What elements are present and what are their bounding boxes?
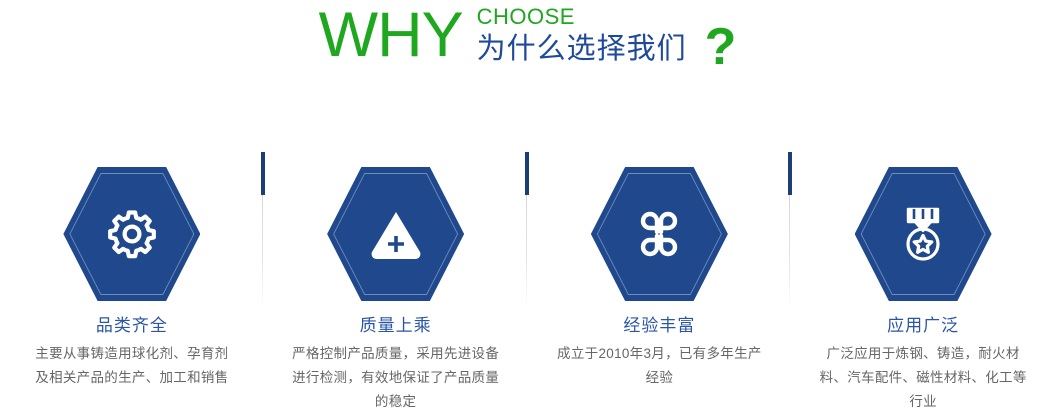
- heading-choose: CHOOSE: [477, 5, 687, 29]
- gear-icon: [63, 167, 200, 301]
- card-title: 质量上乘: [360, 315, 432, 337]
- card-description: 广泛应用于炼钢、铸造，耐火材料、汽车配件、磁性材料、化工等行业: [816, 342, 1031, 414]
- card-description: 严格控制产品质量，采用先进设备进行检测，有效地保证了产品质量的稳定: [288, 342, 503, 414]
- feature-card[interactable]: 应用广泛 广泛应用于炼钢、铸造，耐火材料、汽车配件、磁性材料、化工等行业: [791, 150, 1055, 416]
- triangle-plus-icon: [327, 167, 464, 301]
- card-title: 品类齐全: [96, 315, 168, 337]
- hexagon-badge: [855, 167, 992, 301]
- clover-icon: [591, 167, 728, 301]
- heading-why: WHY: [319, 2, 463, 68]
- feature-card[interactable]: 品类齐全 主要从事铸造用球化剂、孕育剂及相关产品的生产、加工和销售: [0, 150, 264, 416]
- section-heading: WHY CHOOSE 为什么选择我们 ?: [0, 0, 1055, 100]
- why-choose-us-section: WHY CHOOSE 为什么选择我们 ?: [0, 0, 1055, 416]
- heading-question-mark: ?: [705, 2, 737, 76]
- feature-card[interactable]: 经验丰富 成立于2010年3月，已有多年生产经验: [528, 150, 792, 416]
- feature-card[interactable]: 质量上乘 严格控制产品质量，采用先进设备进行检测，有效地保证了产品质量的稳定: [264, 150, 528, 416]
- card-description: 成立于2010年3月，已有多年生产经验: [552, 342, 767, 390]
- medal-icon: [855, 167, 992, 301]
- feature-card-list: 品类齐全 主要从事铸造用球化剂、孕育剂及相关产品的生产、加工和销售 质量上乘: [0, 150, 1055, 416]
- hexagon-badge: [591, 167, 728, 301]
- card-description: 主要从事铸造用球化剂、孕育剂及相关产品的生产、加工和销售: [32, 342, 232, 390]
- hexagon-badge: [327, 167, 464, 301]
- heading-subtitle-cn: 为什么选择我们: [477, 31, 687, 67]
- card-title: 应用广泛: [887, 315, 959, 337]
- hexagon-badge: [63, 167, 200, 301]
- card-title: 经验丰富: [623, 315, 695, 337]
